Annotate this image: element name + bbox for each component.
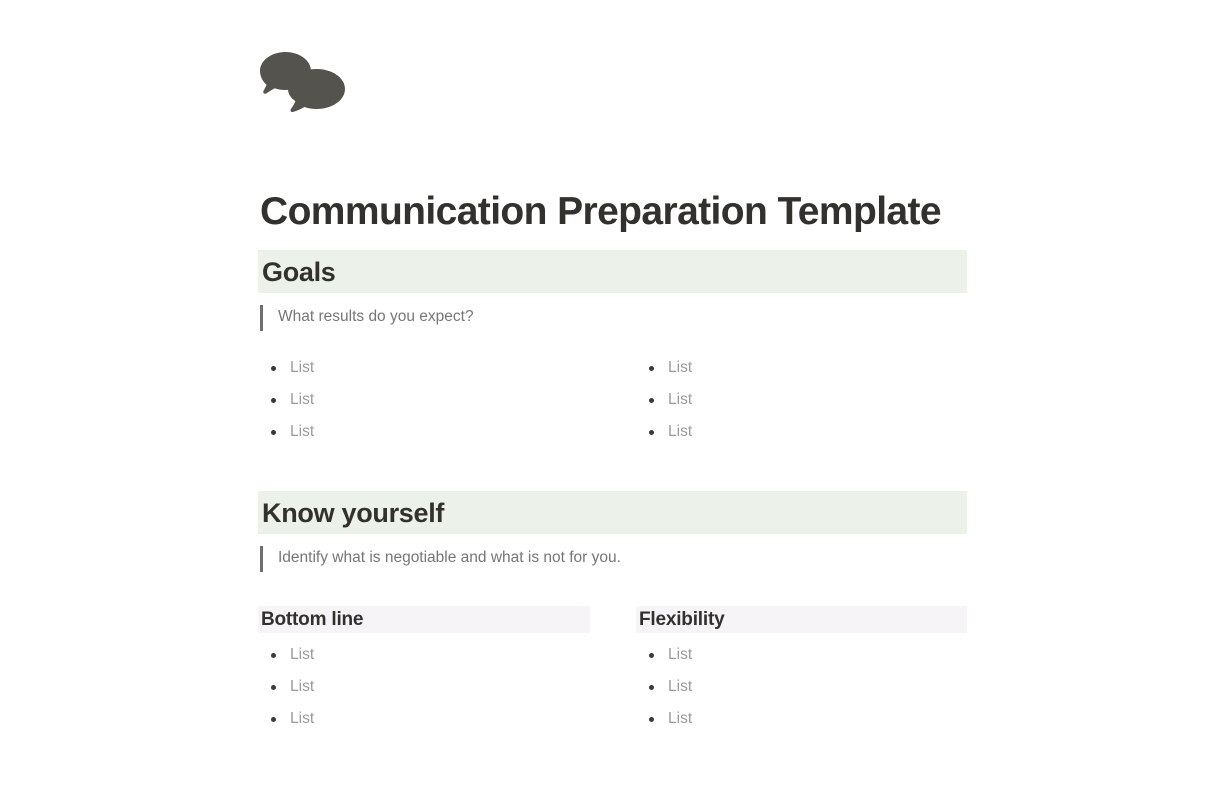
sub-heading-flexibility: Flexibility: [639, 609, 724, 631]
section-header-know-yourself: Know yourself: [258, 491, 967, 534]
section-goals: Goals What results do you expect? List L…: [258, 250, 967, 448]
section-prompt-know-yourself: Identify what is negotiable and what is …: [258, 545, 967, 571]
flexibility-list: List List List: [636, 639, 967, 735]
section-prompt-know-yourself-text: Identify what is negotiable and what is …: [278, 547, 621, 569]
list-item[interactable]: List: [636, 703, 967, 735]
section-header-goals: Goals: [258, 250, 967, 293]
section-prompt-goals: What results do you expect?: [258, 304, 967, 330]
page-title: Communication Preparation Template: [260, 184, 1220, 240]
list-item[interactable]: List: [636, 639, 967, 671]
sub-header-flexibility: Flexibility: [636, 606, 967, 633]
goals-left-list: List List List: [258, 352, 636, 448]
list-item[interactable]: List: [258, 416, 636, 448]
sub-heading-bottom-line: Bottom line: [261, 609, 363, 631]
list-item[interactable]: List: [636, 384, 967, 416]
subsection-bottom-line: Bottom line List List List: [258, 606, 636, 735]
list-item[interactable]: List: [258, 352, 636, 384]
subsection-flexibility: Flexibility List List List: [636, 606, 967, 735]
goals-right-column: List List List: [636, 352, 967, 448]
list-item[interactable]: List: [258, 671, 636, 703]
list-item[interactable]: List: [636, 671, 967, 703]
bottom-line-list: List List List: [258, 639, 636, 735]
goals-left-column: List List List: [258, 352, 636, 448]
list-item[interactable]: List: [636, 416, 967, 448]
section-heading-goals: Goals: [262, 257, 336, 287]
section-prompt-goals-text: What results do you expect?: [278, 306, 474, 328]
goals-bullet-columns: List List List List List List: [258, 352, 967, 448]
sub-header-bottom-line: Bottom line: [258, 606, 590, 633]
list-item[interactable]: List: [258, 639, 636, 671]
list-item[interactable]: List: [258, 384, 636, 416]
list-item[interactable]: List: [636, 352, 967, 384]
know-yourself-subsections: Bottom line List List List Flexibility L…: [258, 606, 967, 735]
speech-bubbles-icon[interactable]: [260, 52, 346, 114]
section-know-yourself: Know yourself Identify what is negotiabl…: [258, 491, 967, 571]
goals-right-list: List List List: [636, 352, 967, 448]
list-item[interactable]: List: [258, 703, 636, 735]
section-heading-know-yourself: Know yourself: [262, 498, 444, 528]
